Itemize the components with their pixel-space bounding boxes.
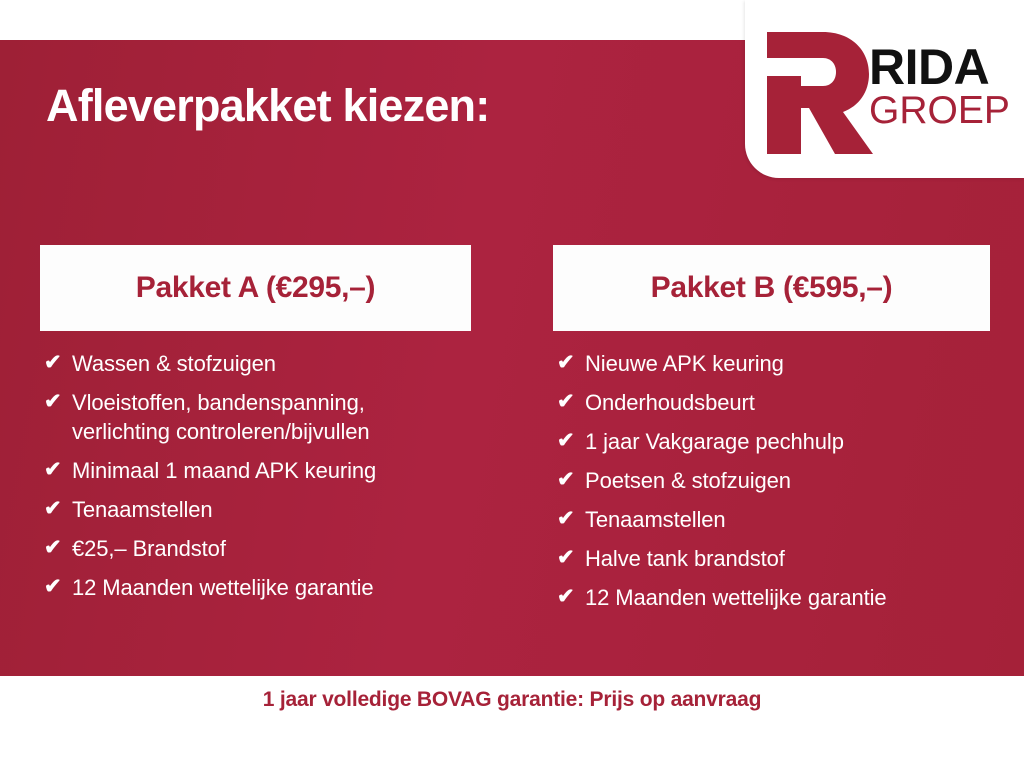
check-icon: ✔ xyxy=(44,495,72,522)
package-a-header[interactable]: Pakket A (€295,–) xyxy=(40,245,471,331)
list-item: ✔ Wassen & stofzuigen xyxy=(44,349,471,378)
list-item: ✔ 12 Maanden wettelijke garantie xyxy=(557,583,990,612)
feature-label: Wassen & stofzuigen xyxy=(72,349,276,378)
page-title: Afleverpakket kiezen: xyxy=(46,78,489,134)
feature-label: 1 jaar Vakgarage pechhulp xyxy=(585,427,844,456)
list-item: ✔ Nieuwe APK keuring xyxy=(557,349,990,378)
check-icon: ✔ xyxy=(557,544,585,571)
check-icon: ✔ xyxy=(557,427,585,454)
feature-label: Poetsen & stofzuigen xyxy=(585,466,791,495)
footer-bar: 1 jaar volledige BOVAG garantie: Prijs o… xyxy=(0,676,1024,768)
feature-label: Vloeistoffen, bandenspanning, verlichtin… xyxy=(72,388,467,446)
logo-name-secondary: GROEP xyxy=(869,91,1019,131)
feature-label: Halve tank brandstof xyxy=(585,544,785,573)
check-icon: ✔ xyxy=(557,505,585,532)
list-item: ✔ Poetsen & stofzuigen xyxy=(557,466,990,495)
feature-label: Tenaamstellen xyxy=(72,495,213,524)
feature-label: 12 Maanden wettelijke garantie xyxy=(72,573,374,602)
check-icon: ✔ xyxy=(44,573,72,600)
feature-label: Nieuwe APK keuring xyxy=(585,349,784,378)
feature-label: €25,– Brandstof xyxy=(72,534,226,563)
logo-wordmark: RIDA GROEP xyxy=(869,44,1019,131)
package-a-feature-list: ✔ Wassen & stofzuigen ✔ Vloeistoffen, ba… xyxy=(40,331,471,602)
package-a-header-label: Pakket A (€295,–) xyxy=(136,271,376,305)
feature-label: Minimaal 1 maand APK keuring xyxy=(72,456,376,485)
check-icon: ✔ xyxy=(557,583,585,610)
feature-label: Onderhoudsbeurt xyxy=(585,388,755,417)
check-icon: ✔ xyxy=(557,349,585,376)
list-item: ✔ Halve tank brandstof xyxy=(557,544,990,573)
feature-label: 12 Maanden wettelijke garantie xyxy=(585,583,887,612)
footer-note: 1 jaar volledige BOVAG garantie: Prijs o… xyxy=(0,688,1024,712)
package-b-header-label: Pakket B (€595,–) xyxy=(651,271,893,305)
rida-groep-logo-panel: RIDA GROEP xyxy=(745,0,1024,178)
package-b-header[interactable]: Pakket B (€595,–) xyxy=(553,245,990,331)
check-icon: ✔ xyxy=(44,388,72,415)
check-icon: ✔ xyxy=(557,466,585,493)
check-icon: ✔ xyxy=(44,349,72,376)
check-icon: ✔ xyxy=(44,534,72,561)
list-item: ✔ Onderhoudsbeurt xyxy=(557,388,990,417)
rida-r-monogram-icon xyxy=(757,28,877,154)
list-item: ✔ Tenaamstellen xyxy=(44,495,471,524)
list-item: ✔ 1 jaar Vakgarage pechhulp xyxy=(557,427,990,456)
list-item: ✔ Tenaamstellen xyxy=(557,505,990,534)
package-column-a: Pakket A (€295,–) ✔ Wassen & stofzuigen … xyxy=(40,245,471,612)
logo-inner: RIDA GROEP xyxy=(745,0,1024,178)
package-column-b: Pakket B (€595,–) ✔ Nieuwe APK keuring ✔… xyxy=(553,245,990,622)
list-item: ✔ 12 Maanden wettelijke garantie xyxy=(44,573,471,602)
package-b-feature-list: ✔ Nieuwe APK keuring ✔ Onderhoudsbeurt ✔… xyxy=(553,331,990,612)
logo-name-primary: RIDA xyxy=(869,44,1019,91)
list-item: ✔ Vloeistoffen, bandenspanning, verlicht… xyxy=(44,388,471,446)
check-icon: ✔ xyxy=(44,456,72,483)
slide-root: RIDA GROEP Afleverpakket kiezen: Pakket … xyxy=(0,0,1024,768)
check-icon: ✔ xyxy=(557,388,585,415)
feature-label: Tenaamstellen xyxy=(585,505,726,534)
list-item: ✔ Minimaal 1 maand APK keuring xyxy=(44,456,471,485)
list-item: ✔ €25,– Brandstof xyxy=(44,534,471,563)
